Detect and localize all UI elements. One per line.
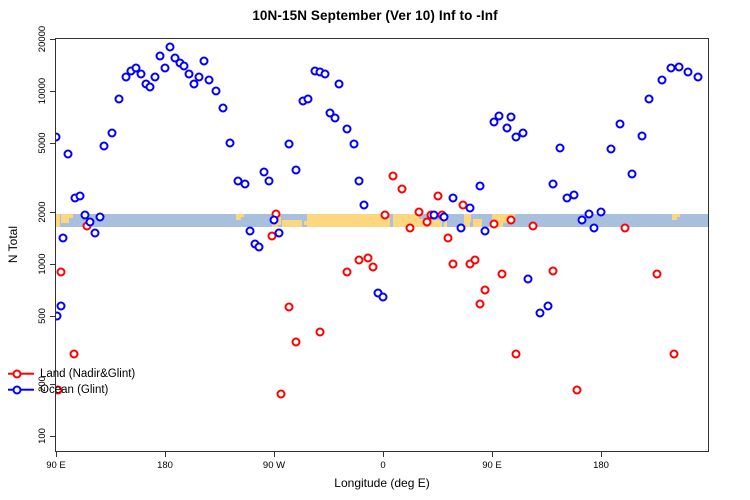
x-tick-mark (492, 451, 493, 457)
data-point (657, 76, 666, 85)
data-point (645, 94, 654, 103)
data-point (693, 73, 702, 82)
data-point (415, 207, 424, 216)
x-tick-mark (165, 451, 166, 457)
data-point (359, 200, 368, 209)
data-point (543, 301, 552, 310)
data-point (330, 113, 339, 122)
data-point (449, 259, 458, 268)
data-point (597, 207, 606, 216)
data-point (536, 308, 545, 317)
data-point (59, 234, 68, 243)
data-point (652, 270, 661, 279)
x-tick-mark (383, 451, 384, 457)
data-point (502, 124, 511, 133)
data-point (76, 192, 85, 201)
legend-marker-icon (8, 368, 34, 379)
data-point (369, 263, 378, 272)
data-point (277, 390, 286, 399)
page-title: 10N-15N September (Ver 10) Inf to -Inf (0, 8, 750, 23)
data-point (524, 274, 533, 283)
data-point (449, 193, 458, 202)
data-point (245, 226, 254, 235)
data-point (398, 185, 407, 194)
data-point (507, 215, 516, 224)
data-point (56, 301, 65, 310)
data-point (274, 229, 283, 238)
data-point (90, 229, 99, 238)
data-point (497, 270, 506, 279)
data-point (260, 167, 269, 176)
legend-item: Ocean (Glint) (8, 382, 135, 397)
map-land-region (473, 219, 483, 227)
y-tick-label: 10000 (38, 78, 48, 104)
data-point (548, 266, 557, 275)
x-tick-label: 90 E (46, 460, 66, 471)
data-point (475, 300, 484, 309)
x-tick-mark (601, 451, 602, 457)
data-point (64, 150, 73, 159)
data-point (284, 303, 293, 312)
y-axis-label-text: N Total (6, 226, 20, 263)
data-point (95, 213, 104, 222)
data-point (621, 224, 630, 233)
legend-label: Land (Nadir&Glint) (40, 368, 135, 380)
data-point (320, 70, 329, 79)
y-tick-mark (50, 436, 56, 437)
map-land-region (468, 214, 472, 222)
data-point (589, 224, 598, 233)
data-point (316, 328, 325, 337)
plot-frame: 100200500100020005000100002000090 E18090… (55, 38, 709, 452)
data-point (56, 133, 61, 142)
y-tick-mark (50, 143, 56, 144)
data-point (616, 120, 625, 129)
map-land-region (56, 214, 60, 227)
data-point (226, 138, 235, 147)
map-land-region (677, 214, 679, 217)
map-land-region (307, 214, 326, 227)
data-point (185, 70, 194, 79)
data-point (146, 83, 155, 92)
x-tick-label: 0 (380, 460, 385, 471)
data-point (444, 234, 453, 243)
data-point (342, 267, 351, 276)
data-point (529, 222, 538, 231)
data-point (194, 73, 203, 82)
y-tick-label: 1000 (38, 253, 48, 274)
x-tick-label: 180 (157, 460, 173, 471)
y-tick-label: 2000 (38, 201, 48, 222)
map-land-region (326, 214, 379, 227)
data-point (429, 211, 438, 220)
data-point (291, 338, 300, 347)
data-point (349, 140, 358, 149)
x-tick-label: 90 W (263, 460, 285, 471)
legend: Land (Nadir&Glint)Ocean (Glint) (8, 366, 135, 398)
data-point (151, 73, 160, 82)
data-point (136, 70, 145, 79)
plot-area (56, 39, 708, 451)
x-axis-label-text: Longitude (deg E) (334, 476, 429, 490)
map-land-region (241, 214, 243, 217)
y-tick-label: 100 (38, 428, 48, 444)
data-point (638, 131, 647, 140)
data-point (56, 267, 65, 276)
data-point (270, 215, 279, 224)
data-point (433, 192, 442, 201)
data-point (466, 203, 475, 212)
data-point (70, 349, 79, 358)
data-point (674, 62, 683, 71)
data-point (354, 255, 363, 264)
data-point (480, 226, 489, 235)
data-point (354, 177, 363, 186)
y-tick-mark (50, 39, 56, 40)
y-tick-mark (50, 212, 56, 213)
data-point (684, 68, 693, 77)
data-point (303, 94, 312, 103)
data-point (335, 79, 344, 88)
data-point (570, 190, 579, 199)
data-point (555, 143, 564, 152)
data-point (265, 177, 274, 186)
data-point (405, 224, 414, 233)
data-point (284, 140, 293, 149)
data-point (480, 286, 489, 295)
data-point (490, 219, 499, 228)
data-point (471, 255, 480, 264)
data-point (364, 253, 373, 262)
data-point (165, 42, 174, 51)
y-tick-mark (50, 264, 56, 265)
data-point (512, 349, 521, 358)
data-point (204, 76, 213, 85)
x-tick-label: 90 E (482, 460, 502, 471)
data-point (584, 209, 593, 218)
legend-label: Ocean (Glint) (40, 384, 108, 396)
x-tick-mark (56, 451, 57, 457)
y-tick-label: 5000 (38, 132, 48, 153)
x-tick-mark (274, 451, 275, 457)
data-point (255, 242, 264, 251)
data-point (161, 64, 170, 73)
data-point (56, 311, 62, 320)
y-tick-label: 500 (38, 308, 48, 324)
y-tick-mark (50, 91, 56, 92)
data-point (156, 51, 165, 60)
data-point (107, 129, 116, 138)
map-land-region (69, 214, 73, 218)
data-point (388, 172, 397, 181)
chart-root: 10N-15N September (Ver 10) Inf to -Inf N… (0, 0, 750, 500)
data-point (439, 213, 448, 222)
data-point (291, 165, 300, 174)
data-point (495, 111, 504, 120)
data-point (100, 142, 109, 151)
legend-item: Land (Nadir&Glint) (8, 366, 135, 381)
y-tick-label: 20000 (38, 26, 48, 52)
data-point (507, 112, 516, 121)
y-tick-mark (50, 316, 56, 317)
data-point (114, 94, 123, 103)
data-point (572, 386, 581, 395)
data-point (240, 179, 249, 188)
map-land-region (282, 220, 301, 227)
data-point (211, 86, 220, 95)
data-point (85, 217, 94, 226)
data-point (606, 145, 615, 154)
data-point (519, 129, 528, 138)
data-point (628, 170, 637, 179)
data-point (548, 179, 557, 188)
x-axis-label: Longitude (deg E) (55, 476, 709, 490)
data-point (475, 182, 484, 191)
x-tick-label: 180 (593, 460, 609, 471)
data-point (342, 125, 351, 134)
data-point (199, 56, 208, 65)
data-point (379, 293, 388, 302)
data-point (456, 224, 465, 233)
data-point (219, 103, 228, 112)
legend-marker-icon (8, 384, 34, 395)
data-point (669, 349, 678, 358)
data-point (381, 211, 390, 220)
